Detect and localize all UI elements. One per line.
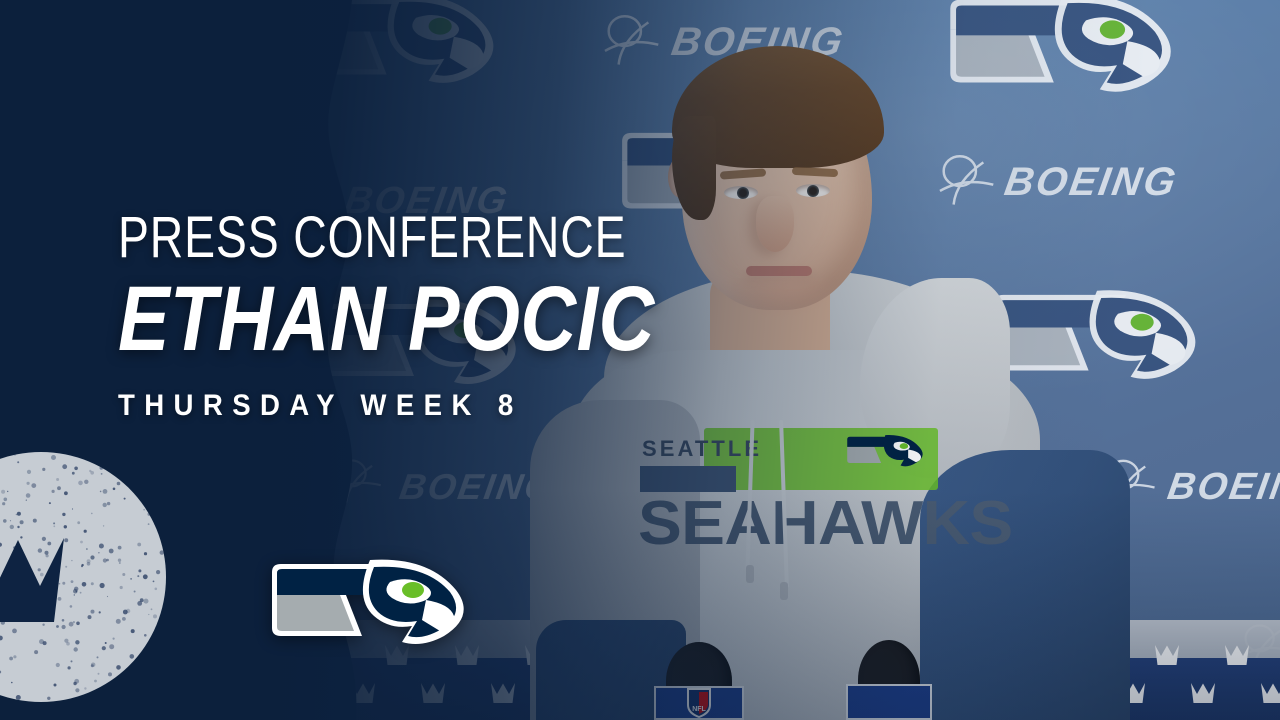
page-title-name: ETHAN POCIC: [118, 276, 588, 363]
iris: [737, 187, 749, 199]
hood-string-tip-left: [746, 565, 754, 583]
crown-icon: [1260, 682, 1280, 704]
seahawks-logo-icon: [844, 430, 930, 474]
crown-icon: [1224, 644, 1250, 666]
thumbnail-canvas: BOEINGBOEINGBOEINGBOEINGBOEING: [0, 0, 1280, 720]
mic-flag: NFL: [654, 686, 744, 720]
page-title-eyebrow: PRESS CONFERENCE: [118, 210, 566, 266]
title-block: PRESS CONFERENCE ETHAN POCIC THURSDAY WE…: [118, 210, 678, 423]
mouth: [746, 266, 812, 276]
nose: [756, 196, 794, 252]
boeing-wordmark: BOEING: [1165, 466, 1280, 509]
garment-city-text: SEATTLE: [642, 436, 762, 462]
seahawks-logo: [270, 552, 470, 660]
hair-sideburn: [672, 116, 716, 220]
twelve-flag-badge: [0, 452, 166, 702]
garment-team-text: SEAHAWKS: [638, 488, 1012, 559]
eye-right: [796, 184, 830, 197]
svg-text:NFL: NFL: [692, 706, 706, 713]
mic-flag: [846, 684, 932, 720]
eye-left: [724, 186, 758, 199]
page-title-when: THURSDAY WEEK 8: [118, 389, 633, 423]
crown-icon: [0, 534, 70, 626]
crown-icon: [1190, 682, 1216, 704]
iris: [807, 185, 819, 197]
hood-string-tip-right: [780, 582, 788, 600]
nfl-shield-icon: NFL: [686, 687, 712, 719]
chin: [726, 278, 834, 318]
crown-icon: [1154, 644, 1180, 666]
